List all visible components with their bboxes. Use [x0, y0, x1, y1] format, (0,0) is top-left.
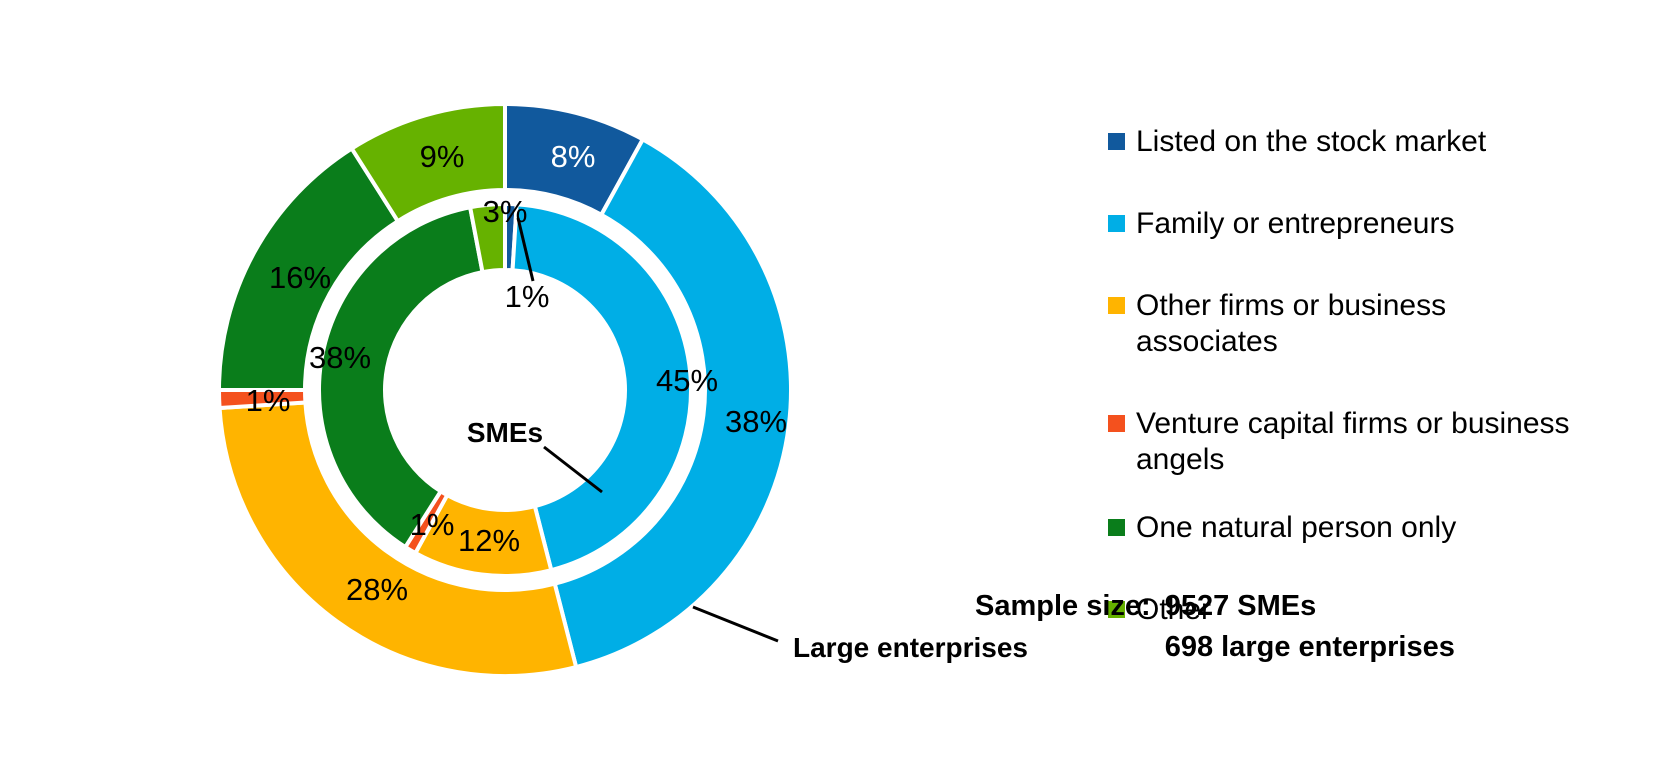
sample-size-block: Sample size: 9527 SMEs 698 large enterpr… [975, 586, 1455, 668]
legend-swatch-icon-family-or-entrepreneurs [1108, 215, 1125, 232]
donut-chart-figure: 8%38%28%1%16%9% 1%45%12%1%38%3% SMEs Lar… [0, 0, 1659, 776]
slice-value-label-outer-3: 1% [246, 383, 291, 418]
slice-value-label-inner-2: 12% [458, 523, 520, 558]
legend-item-listed-on-the-stock-market[interactable]: Listed on the stock market [1108, 124, 1578, 160]
slice-value-label-inner-1: 45% [656, 363, 718, 398]
slice-value-label-inner-4: 38% [309, 340, 371, 375]
legend-item-other-firms-or-business-associates[interactable]: Other firms or business associates [1108, 288, 1578, 360]
slice-value-label-outer-2: 28% [346, 572, 408, 607]
legend-swatch-icon-venture-capital-firms-or-business [1108, 415, 1125, 432]
legend-item-family-or-entrepreneurs[interactable]: Family or entrepreneurs [1108, 206, 1578, 242]
legend-label: Other firms or business associates [1136, 288, 1578, 360]
slice-value-label-outer-1: 38% [725, 404, 787, 439]
legend-swatch-icon-other-firms-or-business-associates [1108, 297, 1125, 314]
slice-value-label-outer-0: 8% [551, 139, 596, 174]
inner-ring-smes [319, 204, 691, 576]
sample-size-label: Sample size: [975, 586, 1151, 627]
legend-label: Family or entrepreneurs [1136, 206, 1454, 242]
legend-item-one-natural-person-only[interactable]: One natural person only [1108, 510, 1578, 546]
slice-value-label-outer-5: 9% [420, 139, 465, 174]
legend-swatch-icon-one-natural-person-only [1108, 519, 1125, 536]
legend-swatch-icon-listed-on-the-stock-market [1108, 133, 1125, 150]
slice-value-label-outer-4: 16% [269, 260, 331, 295]
legend-label: Listed on the stock market [1136, 124, 1486, 160]
inner-ring-caption: SMEs [467, 417, 543, 448]
legend-label: Venture capital firms or business angels [1136, 406, 1570, 478]
slice-value-label-inner-3: 1% [410, 507, 455, 542]
legend-label: One natural person only [1136, 510, 1456, 546]
slice-value-label-inner-5: 3% [483, 194, 528, 229]
leader-line-large-enterprises-caption [693, 607, 778, 641]
slice-value-label-inner-0: 1% [505, 279, 550, 314]
legend-item-venture-capital-firms-or-business[interactable]: Venture capital firms or business angels [1108, 406, 1578, 478]
sample-size-values: 9527 SMEs 698 large enterprises [1165, 586, 1455, 668]
